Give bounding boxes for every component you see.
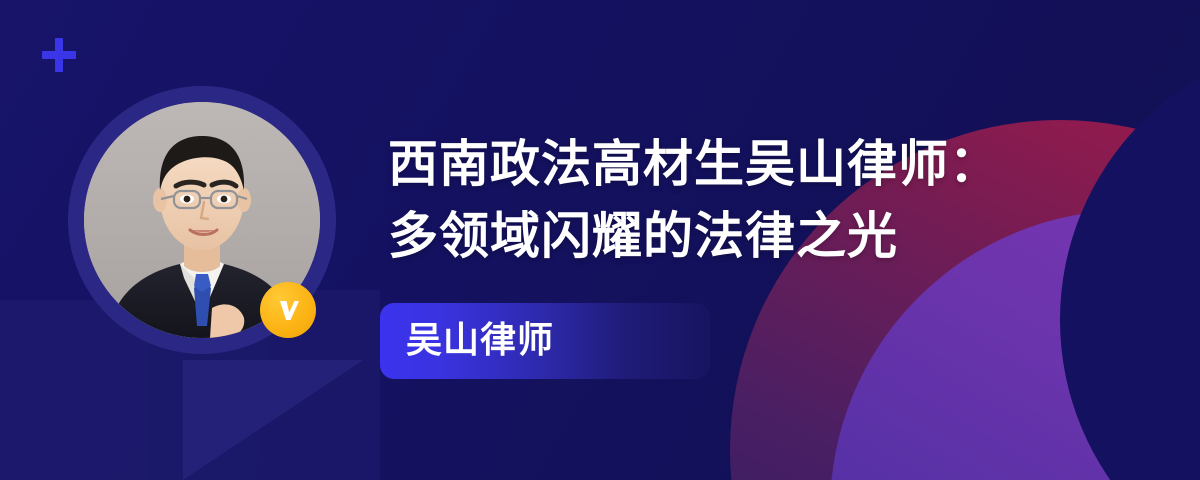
lawyer-name-badge[interactable]: 吴山律师 (380, 303, 710, 379)
page-title: 西南政法高材生吴山律师：多领域闪耀的法律之光 (388, 128, 1048, 272)
plus-icon (42, 38, 76, 72)
gradient-arc-mask (1060, 40, 1200, 480)
verified-badge-icon (260, 282, 316, 338)
avatar (68, 86, 336, 354)
lawyer-name-label: 吴山律师 (380, 323, 554, 359)
lawyer-profile-banner: 西南政法高材生吴山律师：多领域闪耀的法律之光 吴山律师 (0, 0, 1200, 480)
